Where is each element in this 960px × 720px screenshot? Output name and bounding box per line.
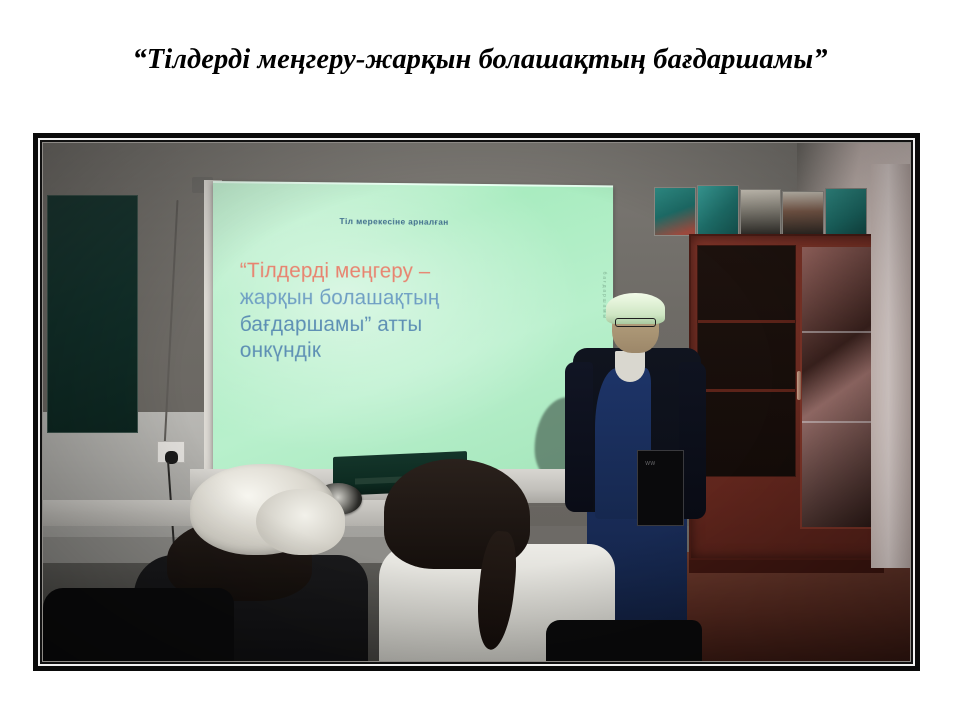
portrait-poster: [740, 189, 782, 236]
poster: [697, 185, 739, 236]
cabinet-handle[interactable]: [797, 371, 801, 400]
poster: [825, 188, 867, 236]
photo-frame-inner: Тіл мерекесіне арналған “Тілдерді меңгер…: [38, 138, 915, 666]
glass-pane-divider: [802, 421, 874, 423]
portrait-poster: [782, 191, 824, 236]
projection-screen: Тіл мерекесіне арналған “Тілдерді меңгер…: [213, 181, 613, 476]
glasses-icon: [615, 318, 657, 327]
folder-label: WW: [645, 461, 655, 467]
poster-row: [654, 187, 866, 236]
shelf: [698, 320, 795, 323]
slide-line-3: бағдаршамы” атты: [240, 312, 599, 339]
photo-frame: Тіл мерекесіне арналған “Тілдерді меңгер…: [33, 133, 920, 671]
teacher-folder: [637, 450, 684, 525]
teacher-collar: [615, 351, 646, 382]
poster: [654, 187, 696, 236]
classroom-scene: Тіл мерекесіне арналған “Тілдерді меңгер…: [43, 143, 910, 661]
student-silhouette-right: [546, 620, 702, 662]
student-left-hair-bow-loop: [256, 489, 345, 555]
door-frame: [871, 164, 910, 568]
classroom-photo: Тіл мерекесіне арналған “Тілдерді меңгер…: [42, 142, 911, 662]
shelf: [698, 389, 795, 392]
bookcase-open-section: [697, 245, 796, 477]
bookcase-base: [689, 560, 884, 573]
slide-line-2: жарқын болашақтың: [240, 285, 599, 312]
slide-body: “Тілдерді меңгеру – жарқын болашақтың ба…: [240, 258, 599, 365]
student-silhouette-left: [43, 588, 234, 662]
glass-cabinet-door[interactable]: [800, 245, 876, 529]
page-title: “Тілдерді меңгеру-жарқын болашақтың бағд…: [0, 44, 960, 76]
chalkboard: [47, 195, 138, 433]
slide-line-1: “Тілдерді меңгеру –: [240, 258, 599, 286]
glass-pane-divider: [802, 331, 874, 333]
slide-header-text: Тіл мерекесіне арналған: [339, 216, 448, 227]
wooden-bookcase: [689, 234, 884, 560]
slide-line-4: онкүндік: [240, 338, 599, 365]
